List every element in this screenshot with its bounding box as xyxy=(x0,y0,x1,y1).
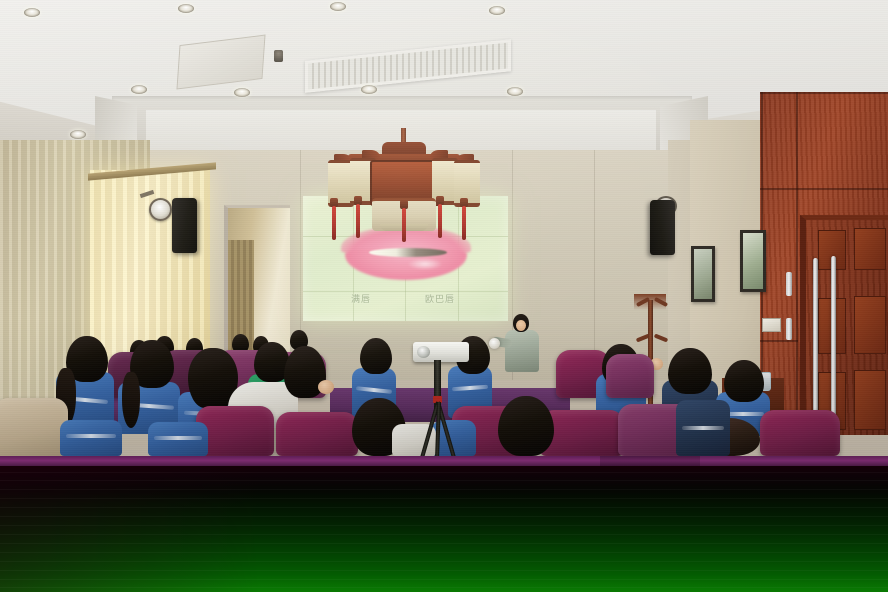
tassel xyxy=(462,206,466,240)
downlight-icon xyxy=(70,130,86,139)
downlight-icon xyxy=(361,85,377,94)
tassel xyxy=(438,204,442,238)
slide-label-right: 欧巴唇 xyxy=(425,292,455,305)
seat[interactable] xyxy=(0,398,68,456)
wall-speaker-right xyxy=(650,200,675,255)
downlight-icon xyxy=(131,85,147,94)
lip-highlight xyxy=(407,258,443,270)
wood-seam xyxy=(760,340,798,342)
tassel xyxy=(332,206,336,240)
corruption-band xyxy=(0,456,888,466)
photograph: 满唇 欧巴唇 xyxy=(0,0,888,456)
seat[interactable] xyxy=(276,412,358,456)
screen-gridline xyxy=(303,291,508,292)
wall-seam xyxy=(594,150,595,380)
downlight-icon xyxy=(489,6,505,15)
wood-seam xyxy=(760,92,888,94)
framed-picture-small xyxy=(691,246,715,302)
ponytail xyxy=(122,372,140,428)
slide-label-left: 满唇 xyxy=(351,292,371,305)
framed-picture-large xyxy=(740,230,766,292)
screenshot-root: 满唇 欧巴唇 xyxy=(0,0,888,592)
seat[interactable] xyxy=(760,410,840,456)
seat[interactable] xyxy=(606,354,654,398)
corruption-band-segment xyxy=(0,456,600,466)
corrupted-gradient-region xyxy=(0,466,888,592)
audience-head xyxy=(724,360,764,402)
door-panel xyxy=(854,370,886,430)
corruption-left-tint xyxy=(0,466,260,592)
audience-torso xyxy=(60,420,122,456)
reflective-stripe xyxy=(154,436,202,440)
projector-lens xyxy=(417,346,430,358)
downlight-icon xyxy=(330,2,346,11)
corruption-band-segment xyxy=(700,456,888,466)
door-handle-right[interactable] xyxy=(831,256,836,430)
corruption-band-segment xyxy=(600,456,700,466)
downlight-icon xyxy=(178,4,194,13)
door-panel xyxy=(854,296,886,354)
wood-seam xyxy=(760,188,888,190)
reflective-stripe xyxy=(682,426,724,430)
downlight-icon xyxy=(24,8,40,17)
audience-head xyxy=(360,338,392,374)
presenter-body xyxy=(505,330,539,372)
audience-head xyxy=(498,396,554,456)
tassel xyxy=(402,208,406,242)
wall-clock-icon xyxy=(149,198,172,221)
door-panel xyxy=(854,228,886,270)
reflective-stripe xyxy=(66,434,116,438)
presenter-held-object xyxy=(489,338,500,349)
lip-opening xyxy=(369,248,447,257)
downlight-icon xyxy=(507,87,523,96)
wood-seam xyxy=(796,92,798,422)
presenter-face xyxy=(516,320,526,331)
audience-head xyxy=(668,348,712,394)
door-edge-plate xyxy=(786,272,792,296)
tassel xyxy=(356,204,360,238)
light-switch-plate[interactable] xyxy=(762,318,781,332)
hand xyxy=(318,380,334,394)
chandelier xyxy=(320,128,490,243)
downlight-icon xyxy=(234,88,250,97)
door-edge-plate xyxy=(786,318,792,340)
door-handle-left[interactable] xyxy=(813,258,818,430)
sprinkler-icon xyxy=(274,50,283,62)
wall-speaker-left xyxy=(172,198,197,253)
